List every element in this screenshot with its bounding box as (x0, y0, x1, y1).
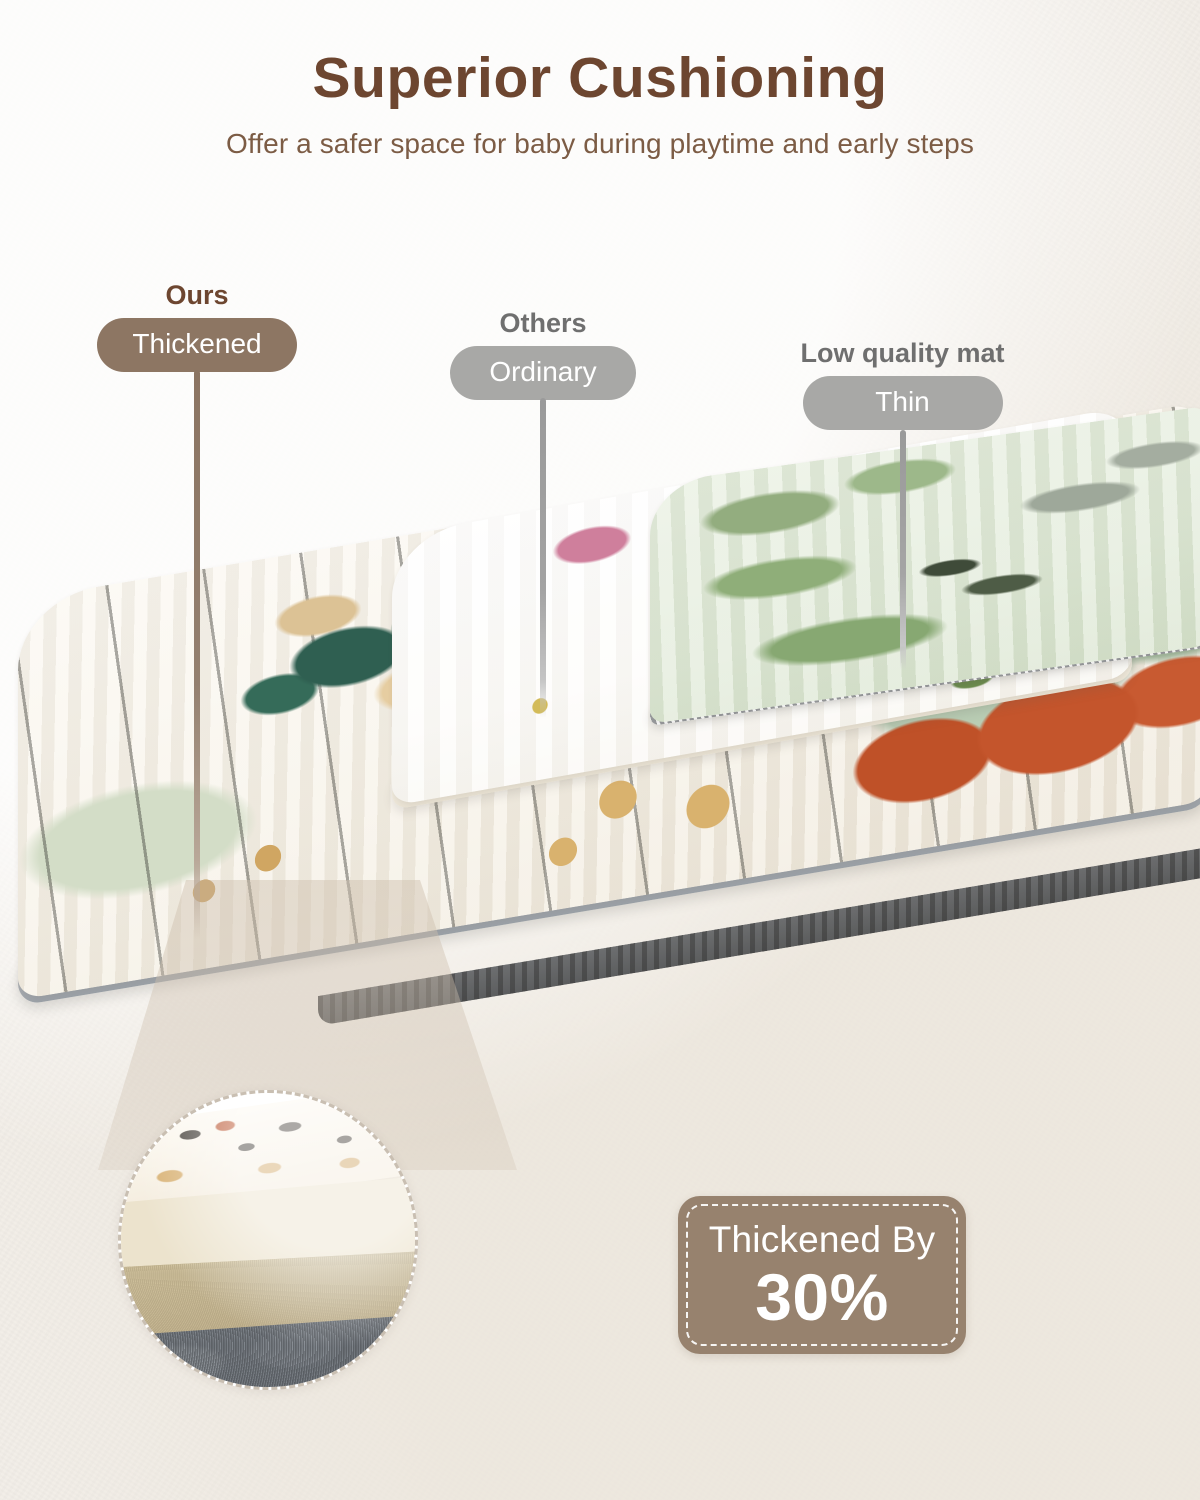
callout-low-quality-pill: Thin (803, 376, 1003, 430)
badge-percentage: 30% (755, 1264, 889, 1330)
callout-low-quality: Low quality mat Thin (775, 340, 1030, 430)
callout-others: Others Ordinary (450, 310, 636, 400)
callout-others-caption: Others (450, 310, 636, 337)
header: Superior Cushioning Offer a safer space … (0, 48, 1200, 160)
callout-others-pointer-needle (540, 398, 546, 718)
low-quality-thin-mat (650, 484, 1200, 724)
layer-cross-section (118, 1090, 418, 1390)
page-title: Superior Cushioning (0, 48, 1200, 108)
badge-label: Thickened By (709, 1221, 936, 1258)
thickened-by-badge: Thickened By 30% (678, 1196, 966, 1354)
callout-ours-pill: Thickened (97, 318, 297, 372)
callout-ours-pointer-needle (194, 370, 200, 940)
callout-ours-caption: Ours (97, 282, 297, 309)
low-quality-mat-surface (650, 405, 1200, 724)
callout-low-quality-pointer-needle (900, 430, 906, 670)
callout-others-pill: Ordinary (450, 346, 636, 400)
callout-ours: Ours Thickened (97, 282, 297, 372)
callout-low-quality-caption: Low quality mat (775, 340, 1030, 367)
page-subtitle: Offer a safer space for baby during play… (0, 128, 1200, 160)
